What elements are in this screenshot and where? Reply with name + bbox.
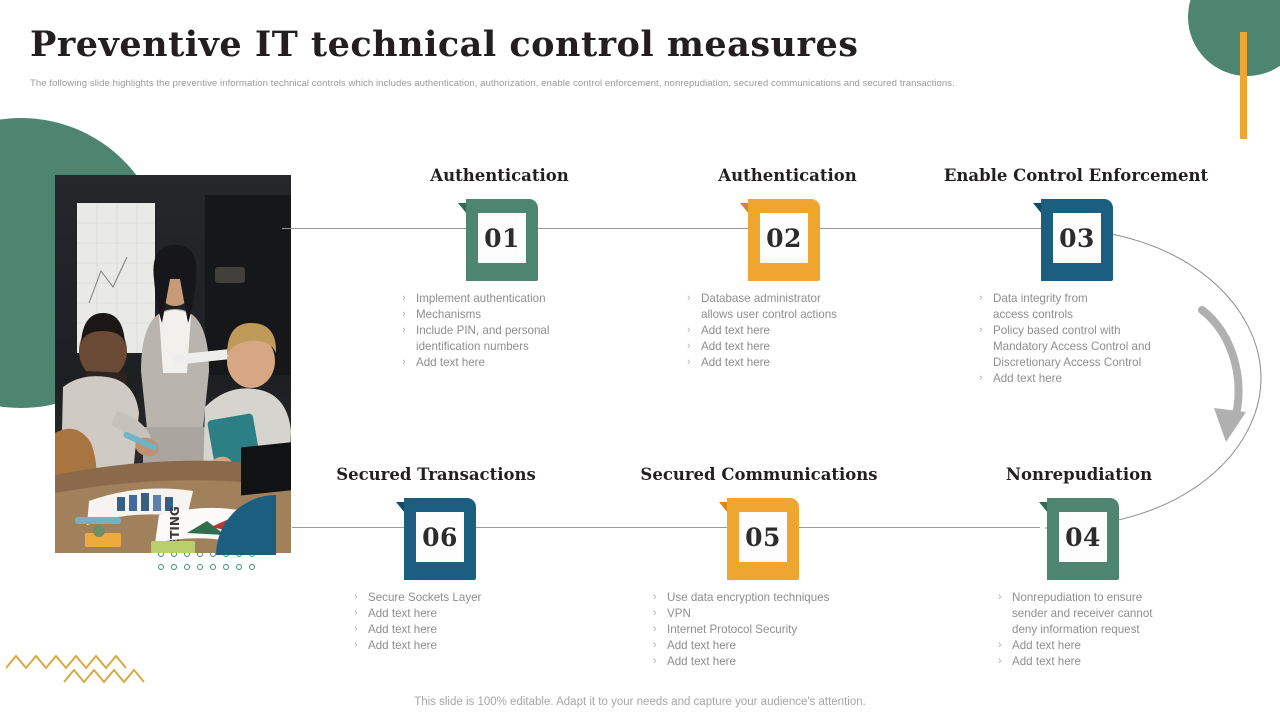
badge-number: 06 xyxy=(416,512,464,562)
page-subtitle: The following slide highlights the preve… xyxy=(30,78,955,89)
list-item: Add text here xyxy=(651,654,885,670)
green-circle-top-right-icon xyxy=(1188,0,1280,76)
card-badge[interactable]: 02 xyxy=(740,199,820,281)
list-item: Add text here xyxy=(352,606,542,622)
card-badge[interactable]: 01 xyxy=(458,199,538,281)
list-item: deny information request xyxy=(996,622,1186,638)
page-title: Preventive IT technical control measures xyxy=(30,24,858,65)
footer-note: This slide is 100% editable. Adapt it to… xyxy=(0,696,1280,708)
list-item: access controls xyxy=(977,307,1225,323)
list-item: identification numbers xyxy=(400,339,590,355)
list-item: allows user control actions xyxy=(685,307,880,323)
card-title: Authentication xyxy=(392,166,607,185)
list-item: Policy based control with xyxy=(977,323,1225,339)
list-item: Data integrity from xyxy=(977,291,1225,307)
orange-vertical-bar-icon xyxy=(1240,32,1247,139)
badge-number: 03 xyxy=(1053,213,1101,263)
list-item: VPN xyxy=(651,606,885,622)
list-item: Add text here xyxy=(685,355,880,371)
card-bullet-list: Nonrepudiation to ensure sender and rece… xyxy=(996,590,1186,670)
card-title: Secured Communications xyxy=(633,465,885,484)
list-item: Secure Sockets Layer xyxy=(352,590,542,606)
list-item: Discretionary Access Control xyxy=(977,355,1225,371)
card-bullet-list: Use data encryption techniques VPN Inter… xyxy=(651,590,885,670)
card-title: Enable Control Enforcement xyxy=(935,166,1217,185)
card-bullet-list: Database administrator allows user contr… xyxy=(685,291,880,371)
card-03[interactable]: Enable Control Enforcement 03 Data integ… xyxy=(935,166,1225,387)
card-badge[interactable]: 03 xyxy=(1033,199,1113,281)
card-badge[interactable]: 06 xyxy=(396,498,476,580)
list-item: Use data encryption techniques xyxy=(651,590,885,606)
list-item: Add text here xyxy=(352,638,542,654)
card-06[interactable]: Secured Transactions 06 Secure Sockets L… xyxy=(330,465,542,654)
list-item: Mechanisms xyxy=(400,307,590,323)
list-item: Add text here xyxy=(400,355,590,371)
list-item: Add text here xyxy=(651,638,885,654)
list-item: Mandatory Access Control and xyxy=(977,339,1225,355)
list-item: Implement authentication xyxy=(400,291,590,307)
card-title: Secured Transactions xyxy=(330,465,542,484)
list-item: Database administrator xyxy=(685,291,880,307)
slide-root: ETING Preventive IT technical control me… xyxy=(0,0,1280,720)
list-item: Add text here xyxy=(352,622,542,638)
badge-number: 04 xyxy=(1059,512,1107,562)
list-item: Add text here xyxy=(685,339,880,355)
card-02[interactable]: Authentication 02 Database administrator… xyxy=(680,166,880,371)
card-bullet-list: Secure Sockets Layer Add text here Add t… xyxy=(352,590,542,654)
list-item: Internet Protocol Security xyxy=(651,622,885,638)
card-bullet-list: Data integrity from access controls Poli… xyxy=(977,291,1225,387)
card-04[interactable]: Nonrepudiation 04 Nonrepudiation to ensu… xyxy=(972,465,1186,670)
team-meeting-photo: ETING xyxy=(55,175,291,553)
card-badge[interactable]: 05 xyxy=(719,498,799,580)
list-item: Add text here xyxy=(996,638,1186,654)
list-item: sender and receiver cannot xyxy=(996,606,1186,622)
card-05[interactable]: Secured Communications 05 Use data encry… xyxy=(633,465,885,670)
gold-zigzag-icon xyxy=(6,646,156,692)
card-badge[interactable]: 04 xyxy=(1039,498,1119,580)
badge-number: 05 xyxy=(739,512,787,562)
badge-number: 01 xyxy=(478,213,526,263)
list-item: Include PIN, and personal xyxy=(400,323,590,339)
card-title: Authentication xyxy=(680,166,895,185)
badge-number: 02 xyxy=(760,213,808,263)
card-01[interactable]: Authentication 01 Implement authenticati… xyxy=(390,166,590,371)
list-item: Add text here xyxy=(685,323,880,339)
card-title: Nonrepudiation xyxy=(972,465,1186,484)
list-item: Add text here xyxy=(977,371,1225,387)
card-bullet-list: Implement authentication Mechanisms Incl… xyxy=(400,291,590,371)
svg-text:ETING: ETING xyxy=(168,506,182,547)
list-item: Nonrepudiation to ensure xyxy=(996,590,1186,606)
list-item: Add text here xyxy=(996,654,1186,670)
